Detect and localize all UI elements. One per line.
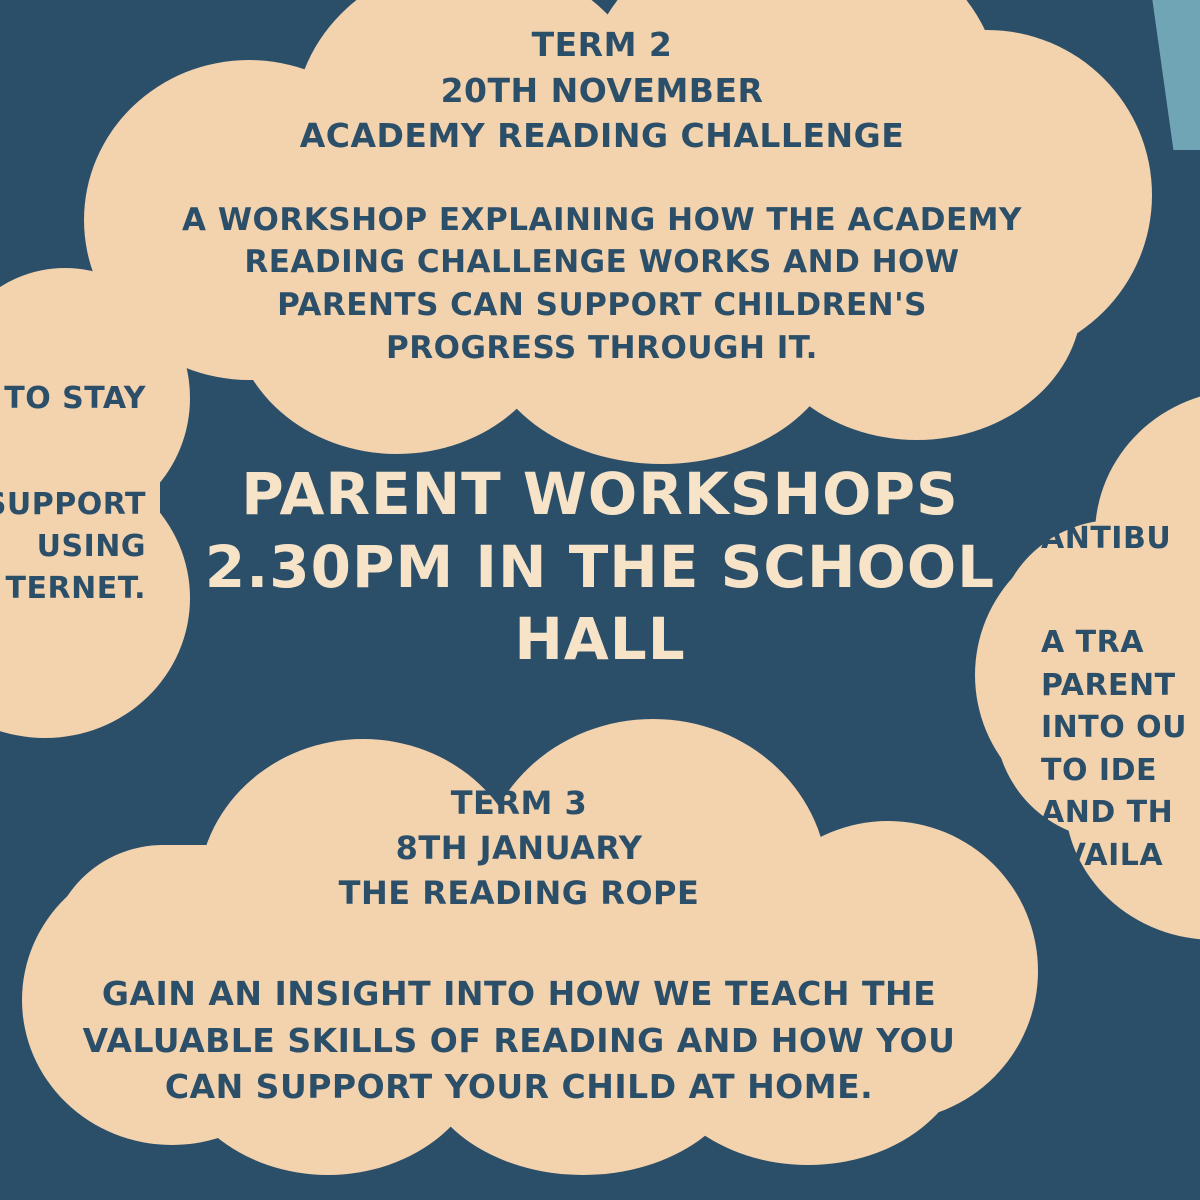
headline-line-2: 2.30PM IN THE SCHOOL: [180, 531, 1020, 604]
poster-canvas: TO STAY SUPPORT USING TERNET. ANTIBU A T…: [0, 0, 1200, 1200]
headline-line-3: HALL: [180, 603, 1020, 676]
poster-headline: PARENT WORKSHOPS 2.30PM IN THE SCHOOL HA…: [180, 458, 1020, 676]
cloud-term-2: TERM 2 20TH NOVEMBER ACADEMY READING CHA…: [62, 0, 1142, 434]
headline-line-1: PARENT WORKSHOPS: [180, 458, 1020, 531]
cloud-term-3: TERM 3 8TH JANUARY THE READING ROPE GAIN…: [8, 735, 1030, 1165]
